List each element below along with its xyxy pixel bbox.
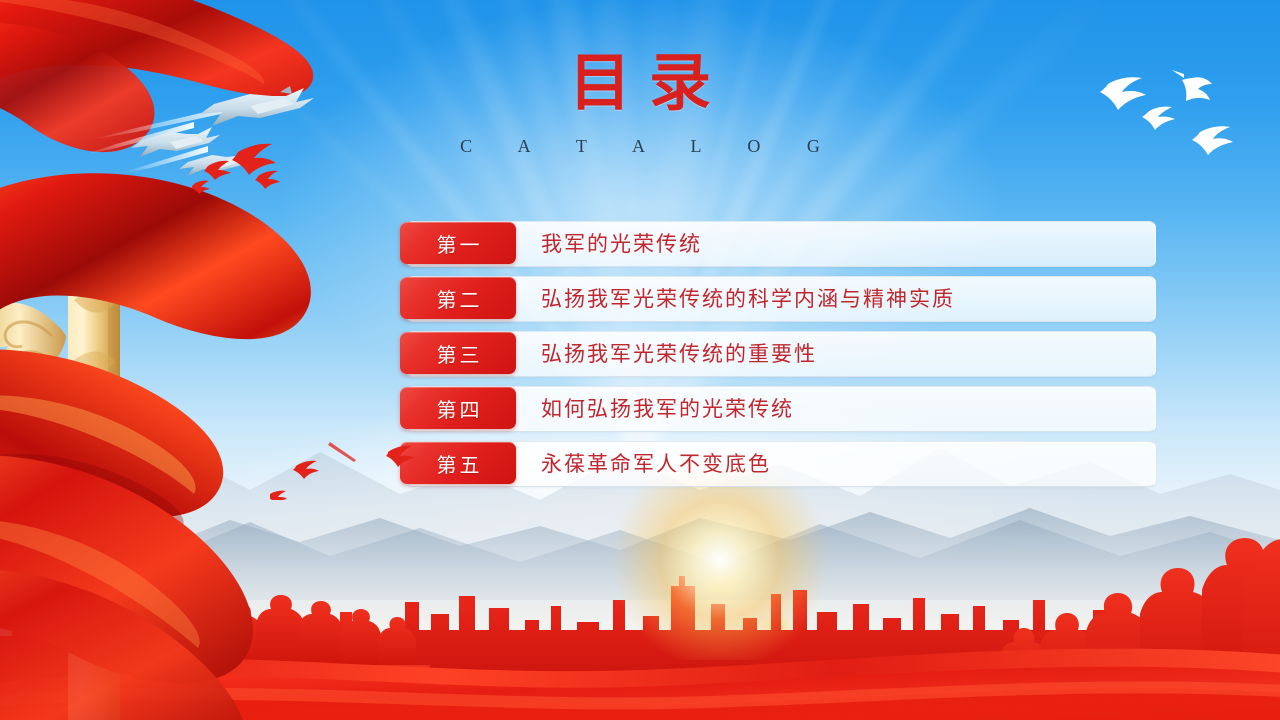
catalog-item-text: 我军的光荣传统 bbox=[516, 222, 702, 264]
catalog-row[interactable]: 第三弘扬我军光荣传统的重要性 bbox=[400, 332, 1156, 374]
catalog-item-badge-label: 第二 bbox=[434, 284, 483, 313]
catalog-item-text: 如何弘扬我军的光荣传统 bbox=[516, 387, 794, 429]
catalog-row[interactable]: 第五永葆革命军人不变底色 bbox=[400, 442, 1156, 484]
huabiao-beast bbox=[84, 180, 137, 221]
red-ribbon-wave-front bbox=[0, 688, 1280, 720]
huabiao-capital bbox=[22, 211, 166, 280]
soldier-silhouettes-left bbox=[140, 595, 430, 720]
catalog-item-text: 弘扬我军光荣传统的重要性 bbox=[516, 332, 817, 374]
bottom-scene bbox=[0, 460, 1280, 720]
catalog-item-badge[interactable]: 第四 bbox=[400, 387, 516, 429]
red-ribbon-highlight bbox=[0, 681, 1280, 709]
catalog-item-badge[interactable]: 第五 bbox=[400, 442, 516, 484]
catalog-item-badge[interactable]: 第一 bbox=[400, 222, 516, 264]
catalog-item-text: 弘扬我军光荣传统的科学内涵与精神实质 bbox=[516, 277, 955, 319]
catalog-item-text: 永葆革命军人不变底色 bbox=[516, 442, 771, 484]
red-silk-ribbon-wrap bbox=[0, 160, 360, 580]
soldier-silhouettes-right bbox=[995, 538, 1280, 720]
city-skyline bbox=[0, 576, 1157, 696]
lens-flare-dot bbox=[700, 554, 746, 600]
slide-canvas: 目录 C A T A L O G 第一我军的光荣传统第二弘扬我军光荣传统的科学内… bbox=[0, 0, 1280, 720]
red-silk-ribbon-bottom-left bbox=[0, 430, 360, 720]
red-silk-ribbon-top bbox=[0, 0, 440, 330]
red-ribbon-wave-mid bbox=[0, 667, 1280, 720]
red-dove-icon bbox=[270, 442, 415, 500]
catalog-item-badge[interactable]: 第二 bbox=[400, 277, 516, 319]
red-ribbon-wave-back bbox=[0, 649, 1280, 720]
page-title: 目录 bbox=[0, 52, 1280, 114]
catalog-row[interactable]: 第四如何弘扬我军的光荣传统 bbox=[400, 387, 1156, 429]
catalog-item-badge-label: 第五 bbox=[434, 449, 483, 478]
catalog-row[interactable]: 第二弘扬我军光荣传统的科学内涵与精神实质 bbox=[400, 277, 1156, 319]
huabiao-cloud-board bbox=[0, 303, 66, 379]
catalog-item-badge-label: 第三 bbox=[434, 339, 483, 368]
huabiao-shaft bbox=[68, 215, 120, 720]
lens-flare-dot bbox=[100, 450, 190, 540]
lens-flare-dot bbox=[760, 612, 794, 646]
catalog-item-badge-label: 第四 bbox=[434, 394, 483, 423]
catalog-row[interactable]: 第一我军的光荣传统 bbox=[400, 222, 1156, 264]
title-block: 目录 C A T A L O G bbox=[0, 52, 1280, 157]
catalog-item-badge[interactable]: 第三 bbox=[400, 332, 516, 374]
catalog-list: 第一我军的光荣传统第二弘扬我军光荣传统的科学内涵与精神实质第三弘扬我军光荣传统的… bbox=[400, 222, 1156, 497]
catalog-item-badge-label: 第一 bbox=[434, 229, 483, 258]
page-subtitle: C A T A L O G bbox=[0, 136, 1280, 157]
